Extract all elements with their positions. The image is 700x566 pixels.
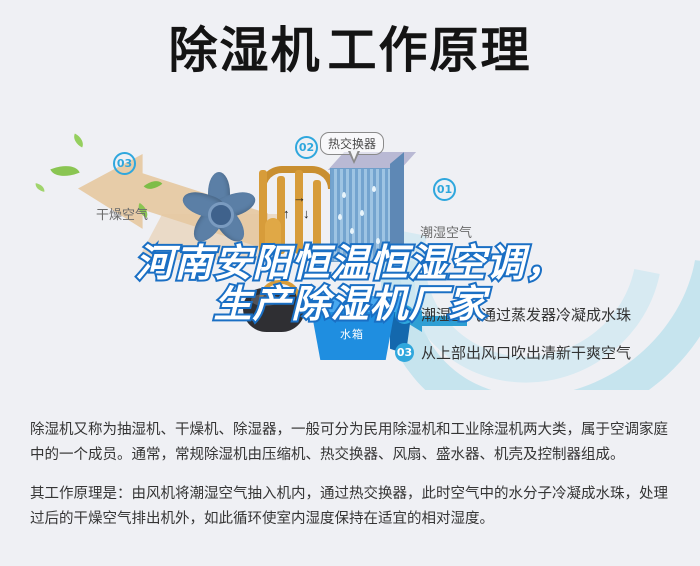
title-part-2: 工作原理: [328, 22, 532, 79]
step-text: 潮湿空气通过蒸发器冷凝成水珠: [421, 304, 631, 325]
poster-root: 除湿机工作原理 ↑ ↓: [0, 0, 700, 566]
leaf-icon: [34, 183, 45, 192]
badge-humid-air: 01: [433, 178, 456, 201]
step-text: 从上部出风口吹出清新干爽空气: [421, 342, 631, 363]
paragraph-principle: 其工作原理是：由风机将潮湿空气抽入机内，通过热交换器，此时空气中的水分子冷凝成水…: [30, 482, 672, 532]
step-item: 02 潮湿空气通过蒸发器冷凝成水珠: [395, 304, 631, 325]
step-number: 02: [395, 305, 414, 324]
step-number: 03: [395, 343, 414, 362]
badge-dry-air: 03: [113, 152, 136, 175]
water-tank-label: 水箱: [340, 326, 364, 342]
leaf-icon: [50, 160, 79, 183]
title-part-1: 除湿机: [168, 22, 321, 79]
compressor-icon: [243, 288, 305, 332]
body-copy: 除湿机又称为抽湿机、干燥机、除湿器，一般可分为民用除湿机和工业除湿机两大类，属于…: [30, 418, 672, 546]
label-humid-air: 潮湿空气: [420, 222, 472, 241]
fan-icon: [172, 166, 264, 258]
badge-heat-exchanger: 02: [295, 136, 318, 159]
step-item: 03 从上部出风口吹出清新干爽空气: [395, 342, 631, 363]
condenser-coil-icon: ↑ ↓ →: [255, 166, 329, 258]
dehumidifier-diagram: ↑ ↓ → 水箱 03 干燥空气 02 热交换器: [0, 118, 700, 390]
leaf-icon: [71, 133, 87, 147]
paragraph-definition: 除湿机又称为抽湿机、干燥机、除湿器，一般可分为民用除湿机和工业除湿机两大类，属于…: [30, 418, 672, 468]
heat-exchanger-icon: [330, 152, 404, 260]
callout-pointer-icon: [348, 151, 360, 164]
label-dry-air: 干燥空气: [96, 204, 148, 223]
page-title: 除湿机工作原理: [0, 26, 700, 75]
